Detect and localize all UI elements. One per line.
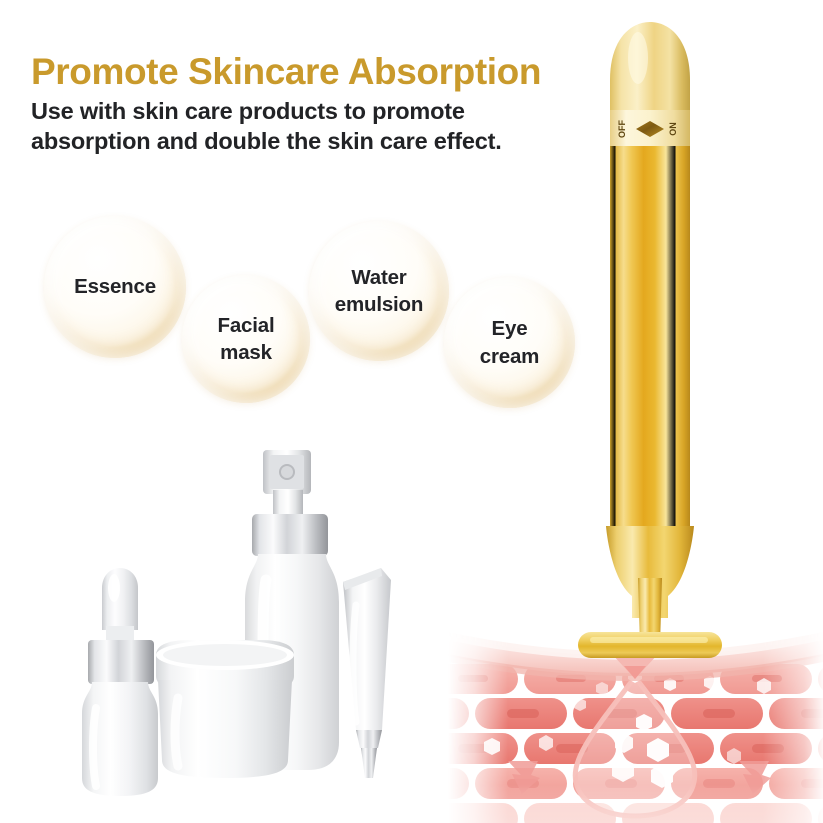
- copy-block: Promote Skincare Absorption Use with ski…: [31, 52, 611, 156]
- device-body: [610, 146, 690, 531]
- cream-jar: [156, 640, 294, 778]
- absorption-teardrop: [575, 677, 695, 816]
- page-subtitle: Use with skin care products to promote a…: [31, 97, 611, 156]
- subtitle-line-2: absorption and double the skin care effe…: [31, 127, 611, 157]
- massage-head-bar: [578, 632, 722, 658]
- gold-beauty-bar: OFF ON: [560, 18, 760, 663]
- bubble-facial-mask-line-1: Facial: [218, 314, 275, 337]
- page-title: Promote Skincare Absorption: [31, 52, 611, 91]
- bubble-facial-mask-line-2: mask: [220, 341, 272, 364]
- bubble-facial-mask: Facial mask: [182, 275, 310, 403]
- bubble-essence: Essence: [44, 216, 186, 358]
- bubble-water-emulsion-line-1: Water: [351, 266, 406, 289]
- subtitle-line-1: Use with skin care products to promote: [31, 97, 611, 127]
- bubble-water-emulsion-label: Water emulsion: [335, 264, 423, 319]
- bubble-eye-cream-label: Eye cream: [480, 315, 539, 370]
- bubble-facial-mask-label: Facial mask: [218, 312, 275, 367]
- bubble-water-emulsion: Water emulsion: [309, 221, 449, 361]
- bubble-eye-cream-line-1: Eye: [492, 317, 528, 340]
- bubble-eye-cream-line-2: cream: [480, 345, 539, 368]
- device-cap: [610, 22, 690, 114]
- switch-off-label[interactable]: OFF: [617, 120, 627, 138]
- bubble-water-emulsion-line-2: emulsion: [335, 293, 423, 316]
- bubble-essence-label: Essence: [74, 273, 156, 300]
- skincare-product-group: [60, 430, 405, 805]
- squeeze-tube: [343, 568, 391, 778]
- switch-on-label[interactable]: ON: [668, 122, 678, 136]
- bubble-eye-cream: Eye cream: [444, 277, 575, 408]
- skin-cells: [448, 664, 823, 823]
- dropper-bottle: [82, 568, 158, 796]
- product-marketing-image: Promote Skincare Absorption Use with ski…: [0, 0, 823, 823]
